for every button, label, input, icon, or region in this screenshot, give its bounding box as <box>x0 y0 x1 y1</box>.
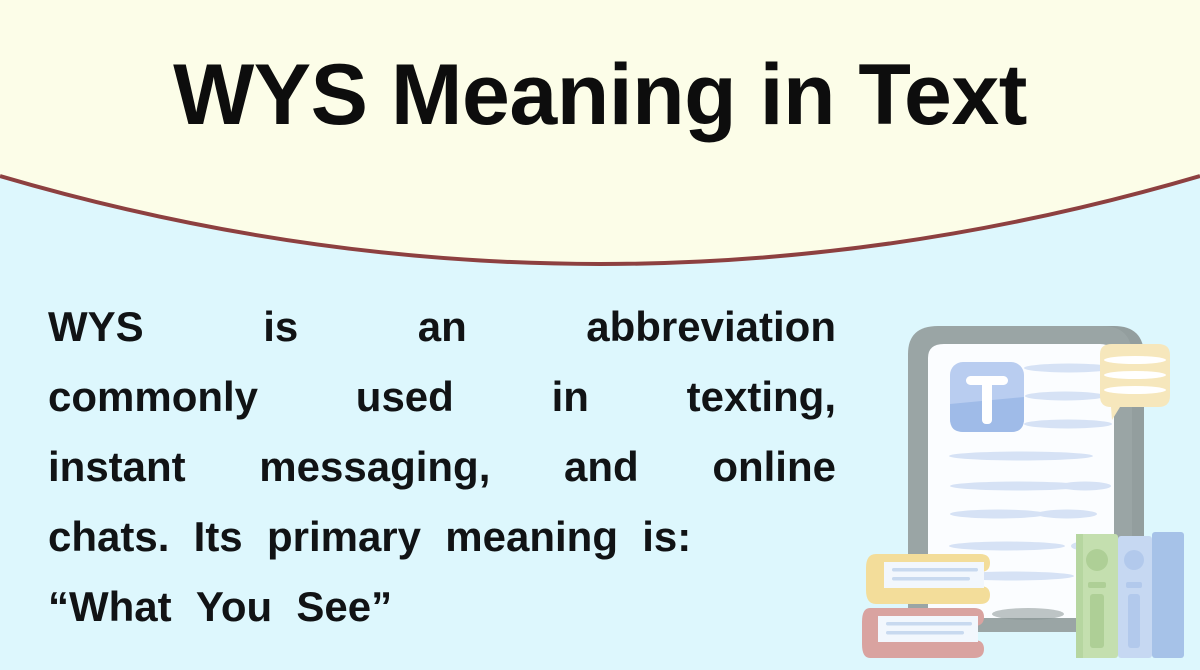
definition-word: “What <box>48 572 172 642</box>
definition-word: WYS <box>48 292 144 362</box>
definition-word: See” <box>296 572 392 642</box>
text-format-t-icon <box>950 362 1024 432</box>
binder-blue-icon <box>1118 532 1184 658</box>
definition-word: chats. <box>48 502 169 572</box>
binder-green-icon <box>1076 534 1118 658</box>
header-curve-shape <box>0 0 1200 290</box>
definition-line-2: commonly used in texting, <box>48 362 836 432</box>
definition-word: Its <box>194 502 243 572</box>
definition-word: an <box>418 292 467 362</box>
infographic-canvas: WYS Meaning in Text WYS is an abbreviati… <box>0 0 1200 670</box>
definition-paragraph: WYS is an abbreviation commonly used in … <box>48 292 836 642</box>
definition-word: used <box>356 362 454 432</box>
definition-word: is <box>263 292 298 362</box>
document-tablet-books-illustration <box>862 296 1200 670</box>
definition-word: meaning <box>445 502 618 572</box>
page-title: WYS Meaning in Text <box>0 52 1200 138</box>
definition-word: and <box>564 432 639 502</box>
definition-word: primary <box>267 502 421 572</box>
definition-word: texting, <box>687 362 836 432</box>
tablet-bottom-shadow <box>992 608 1064 620</box>
header-band: WYS Meaning in Text <box>0 0 1200 290</box>
definition-word: instant <box>48 432 186 502</box>
definition-word: messaging, <box>259 432 490 502</box>
definition-line-1: WYS is an abbreviation <box>48 292 836 362</box>
definition-line-3: instant messaging, and online <box>48 432 836 502</box>
definition-word: You <box>196 572 272 642</box>
definition-word: commonly <box>48 362 258 432</box>
definition-word: abbreviation <box>586 292 836 362</box>
definition-word: is: <box>642 502 691 572</box>
definition-word: online <box>712 432 836 502</box>
definition-line-4: chats. Its primary meaning is: <box>48 502 836 572</box>
definition-word: in <box>552 362 589 432</box>
definition-line-5: “What You See” <box>48 572 836 642</box>
